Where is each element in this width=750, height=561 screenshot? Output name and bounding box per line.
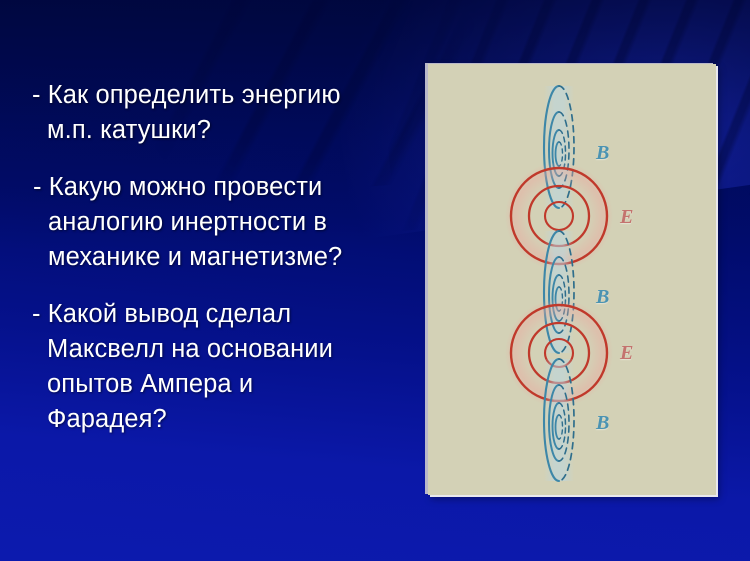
question-item-2: - Какую можно провести аналогию инертнос… [0, 170, 420, 275]
question-item-3: - Какой вывод сделал Максвелл на основан… [0, 297, 420, 437]
figure-panel: B E B E B [428, 64, 716, 495]
b-label-top: B [596, 142, 610, 165]
b-label-bottom: B [596, 412, 610, 435]
question-item-1: - Как определить энергию м.п. катушки? [0, 78, 420, 148]
slide-root: - Как определить энергию м.п. катушки? -… [0, 0, 750, 561]
question-list: - Как определить энергию м.п. катушки? -… [0, 78, 420, 437]
b-field-group-bottom [544, 359, 574, 481]
e-label-lower: E [620, 342, 634, 365]
em-wave-diagram: B E B E B [428, 64, 716, 495]
b-label-middle: B [596, 286, 610, 309]
e-label-upper: E [620, 206, 634, 229]
em-field-svg [428, 64, 716, 495]
